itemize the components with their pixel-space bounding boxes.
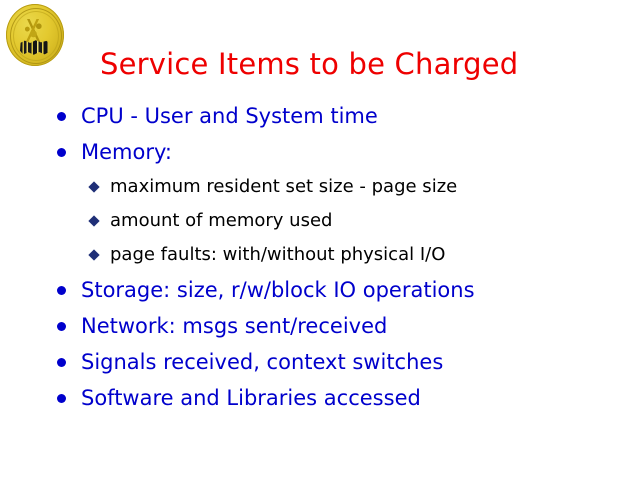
bullet-item-storage: Storage: size, r/w/block IO operations — [0, 272, 640, 308]
seal-script-text-icon — [20, 40, 50, 55]
bullet-diamond-icon — [88, 181, 99, 192]
bullet-item-network: Network: msgs sent/received — [0, 308, 640, 344]
organization-seal-logo-icon — [6, 4, 64, 66]
bullet-label: CPU - User and System time — [81, 104, 378, 128]
bullet-disc-icon — [57, 358, 66, 367]
bullet-label: Memory: — [81, 140, 172, 164]
bullet-disc-icon — [57, 112, 66, 121]
bullet-diamond-icon — [88, 215, 99, 226]
bullet-disc-icon — [57, 394, 66, 403]
sub-bullet-label: amount of memory used — [110, 210, 332, 231]
bullet-list: CPU - User and System time Memory: maxim… — [0, 98, 640, 416]
sub-bullet-label: maximum resident set size - page size — [110, 176, 457, 197]
sub-bullet-item-memory-used: amount of memory used — [0, 204, 640, 238]
bullet-disc-icon — [57, 148, 66, 157]
bullet-label: Signals received, context switches — [81, 350, 443, 374]
bullet-disc-icon — [57, 322, 66, 331]
sub-bullet-label: page faults: with/without physical I/O — [110, 244, 445, 265]
slide-title: Service Items to be Charged — [100, 46, 600, 82]
bullet-label: Network: msgs sent/received — [81, 314, 387, 338]
sub-bullet-item-page-faults: page faults: with/without physical I/O — [0, 238, 640, 272]
bullet-item-software-libraries: Software and Libraries accessed — [0, 380, 640, 416]
bullet-item-signals: Signals received, context switches — [0, 344, 640, 380]
bullet-item-cpu: CPU - User and System time — [0, 98, 640, 134]
sub-bullet-item-resident-set-size: maximum resident set size - page size — [0, 170, 640, 204]
bullet-diamond-icon — [88, 249, 99, 260]
bullet-item-memory: Memory: — [0, 134, 640, 170]
slide-canvas: Service Items to be Charged CPU - User a… — [0, 0, 640, 480]
seal-central-emblem-icon — [19, 19, 51, 43]
bullet-label: Storage: size, r/w/block IO operations — [81, 278, 475, 302]
bullet-label: Software and Libraries accessed — [81, 386, 421, 410]
bullet-disc-icon — [57, 286, 66, 295]
